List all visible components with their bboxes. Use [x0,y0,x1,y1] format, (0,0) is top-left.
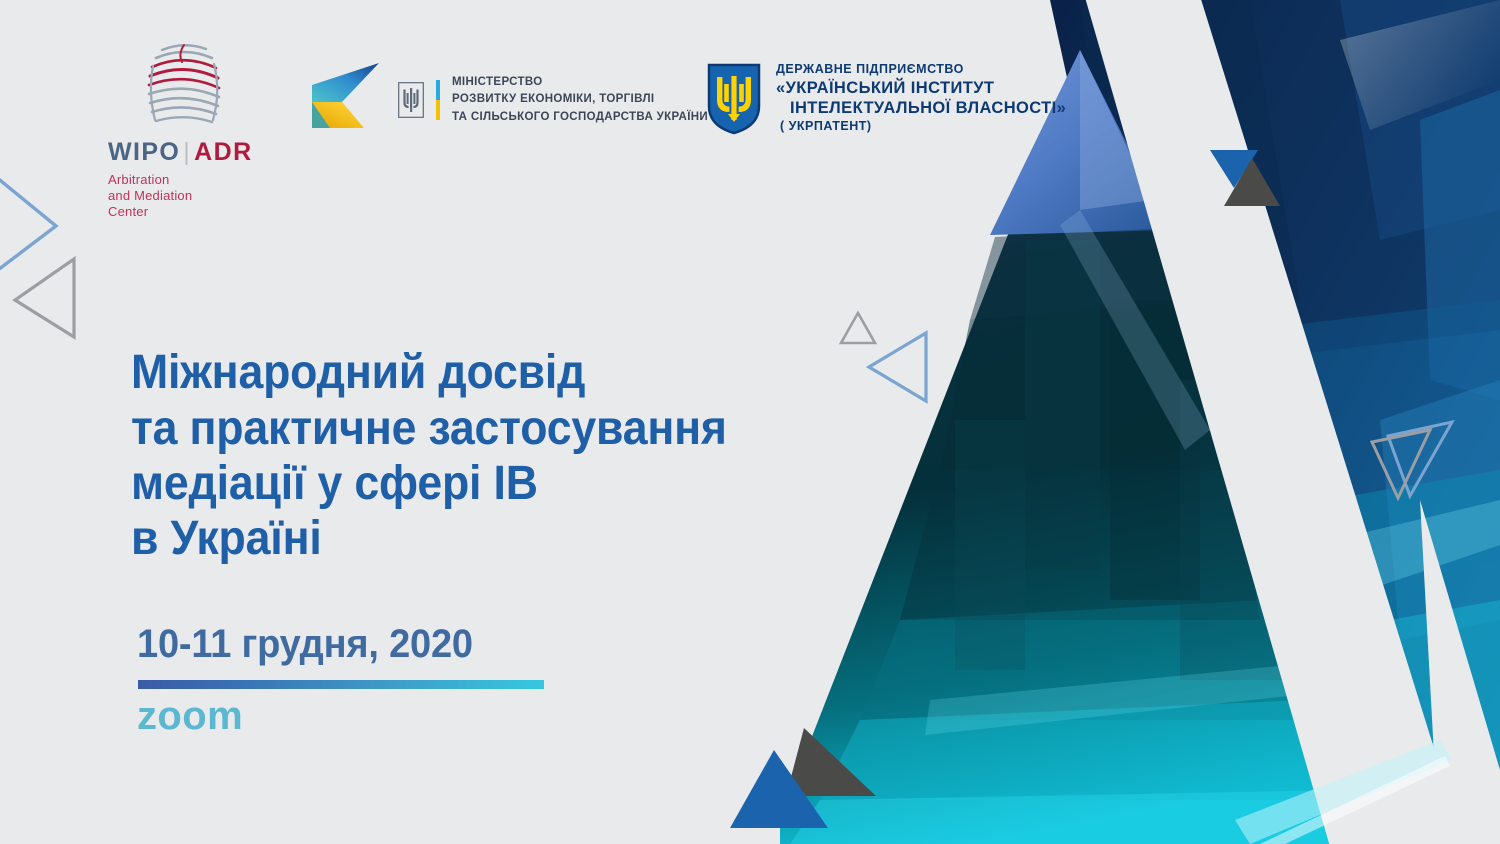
wipo-word-divider: | [180,138,194,166]
headline-line-3: медіації у сфері ІВ [131,456,856,511]
logo-row: WIPO|ADR Arbitration and Mediation Cente… [0,0,1100,200]
ukraine-trident-icon [398,82,424,118]
wipo-subtitle: Arbitration and Mediation Center [108,172,278,220]
headline-line-4: в Україні [131,511,856,566]
wipo-subtitle-line-1: Arbitration [108,172,278,188]
wipo-adr-logo: WIPO|ADR Arbitration and Mediation Cente… [108,36,278,220]
ministry-of-economy-logo: МІНІСТЕРСТВО РОЗВИТКУ ЕКОНОМІКИ, ТОРГІВЛ… [300,58,708,142]
poster-canvas: WIPO|ADR Arbitration and Mediation Cente… [0,0,1500,844]
gradient-divider [138,680,544,689]
event-date: 10-11 грудня, 2020 [137,622,473,667]
ministry-name: МІНІСТЕРСТВО РОЗВИТКУ ЕКОНОМІКИ, ТОРГІВЛ… [452,74,708,126]
decorative-triangle-blue-left [866,330,930,404]
headline-line-1: Міжнародний досвід [131,345,856,400]
ministry-line-3: ТА СІЛЬСЬКОГО ГОСПОДАРСТВА УКРАЇНИ [452,109,708,126]
decorative-triangle-pair-outline [1364,400,1460,504]
ukrpatent-line-4: ( УКРПАТЕНТ) [776,118,1066,136]
wipo-subtitle-line-2: and Mediation [108,188,278,204]
ukraine-flag-mark-icon [300,58,388,142]
decorative-triangle-solid-pair-top [1208,148,1284,210]
ukrpatent-line-3: ІНТЕЛЕКТУАЛЬНОЇ ВЛАСНОСТІ» [776,98,1066,118]
wipo-word-secondary: ADR [194,138,252,166]
ministry-line-2: РОЗВИТКУ ЕКОНОМІКИ, ТОРГІВЛІ [452,91,708,108]
ukrpatent-line-1: ДЕРЖАВНЕ ПІДПРИЄМСТВО [776,62,1066,78]
headline-line-2: та практичне застосування [131,401,856,456]
wipo-word-primary: WIPO [108,138,180,166]
wipo-subtitle-line-3: Center [108,204,278,220]
ukrpatent-name: ДЕРЖАВНЕ ПІДПРИЄМСТВО «УКРАЇНСЬКИЙ ІНСТИ… [776,62,1066,135]
wipo-globe-icon [122,36,242,131]
ukraine-coat-of-arms-icon [706,62,762,136]
ukrpatent-logo: ДЕРЖАВНЕ ПІДПРИЄМСТВО «УКРАЇНСЬКИЙ ІНСТИ… [706,62,1066,136]
event-platform: zoom [137,694,243,739]
ministry-line-1: МІНІСТЕРСТВО [452,74,708,91]
ukrpatent-line-2: «УКРАЇНСЬКИЙ ІНСТИТУТ [776,78,1066,98]
page-title: Міжнародний досвід та практичне застосув… [131,345,856,567]
ministry-emblem [300,58,424,142]
decorative-triangle-gray-left [12,256,78,340]
ministry-divider [436,80,440,120]
decorative-triangle-solid-pair-bottom [728,722,880,832]
wipo-wordmark: WIPO|ADR [108,140,278,165]
